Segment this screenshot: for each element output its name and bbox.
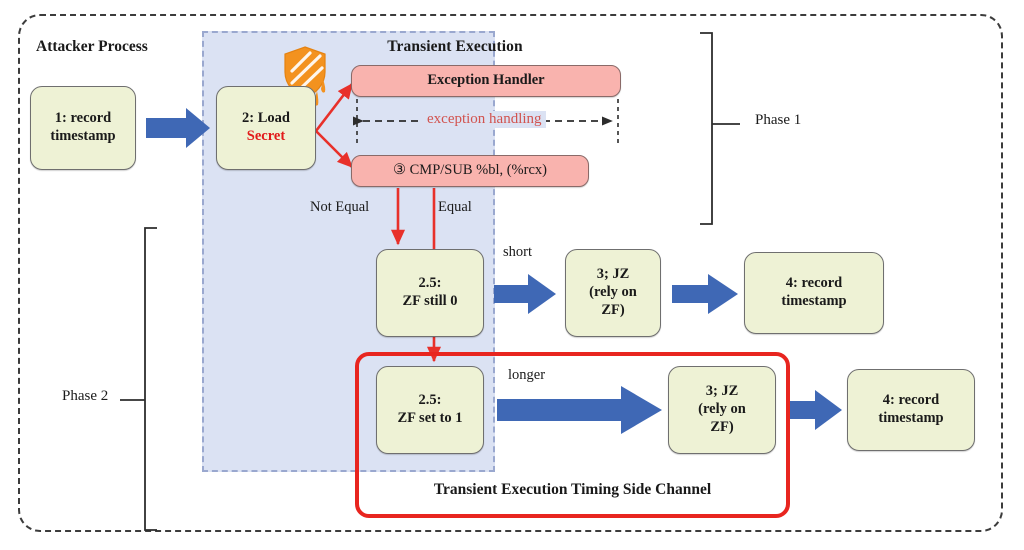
node-record-timestamp-2[interactable]: 4: record timestamp — [744, 252, 884, 334]
node-line: timestamp — [781, 293, 846, 309]
attacker-process-title: Attacker Process — [36, 38, 148, 56]
node-line: ZF) — [601, 302, 624, 318]
node-cmp-sub-instruction[interactable]: ③ CMP/SUB %bl, (%rcx) — [351, 155, 589, 187]
node-label: ③ CMP/SUB %bl, (%rcx) — [393, 162, 547, 180]
node-line: 4: record — [883, 392, 940, 408]
node-line: 1: record — [55, 110, 112, 126]
node-record-timestamp-3[interactable]: 4: record timestamp — [847, 369, 975, 451]
node-line: ZF still 0 — [402, 293, 457, 309]
node-line: timestamp — [878, 410, 943, 426]
edge-label-short: short — [503, 244, 532, 261]
node-jz-rely-on-zf-top[interactable]: 3; JZ (rely on ZF) — [565, 249, 661, 337]
node-line: 3; JZ — [597, 266, 630, 282]
transient-execution-title: Transient Execution — [310, 38, 600, 56]
node-load-secret[interactable]: 2: Load Secret — [216, 86, 316, 170]
edge-label-equal: Equal — [438, 199, 472, 216]
node-label: Exception Handler — [427, 72, 544, 90]
node-line-secret: Secret — [247, 128, 285, 144]
timing-side-channel-label: Transient Execution Timing Side Channel — [355, 481, 790, 499]
exception-handling-label: exception handling — [423, 111, 546, 128]
edge-label-not-equal: Not Equal — [310, 199, 369, 216]
node-exception-handler[interactable]: Exception Handler — [351, 65, 621, 97]
node-line: 2.5: — [419, 275, 442, 291]
node-record-timestamp-1[interactable]: 1: record timestamp — [30, 86, 136, 170]
node-zf-still-0[interactable]: 2.5: ZF still 0 — [376, 249, 484, 337]
node-line: (rely on — [589, 284, 637, 300]
diagram-canvas: Attacker Process Transient Execution — [0, 0, 1024, 550]
node-line: timestamp — [50, 128, 115, 144]
node-line: 2: Load — [242, 110, 290, 126]
phase-1-label: Phase 1 — [755, 112, 801, 129]
phase-2-label: Phase 2 — [62, 388, 108, 405]
node-line: 4: record — [786, 275, 843, 291]
